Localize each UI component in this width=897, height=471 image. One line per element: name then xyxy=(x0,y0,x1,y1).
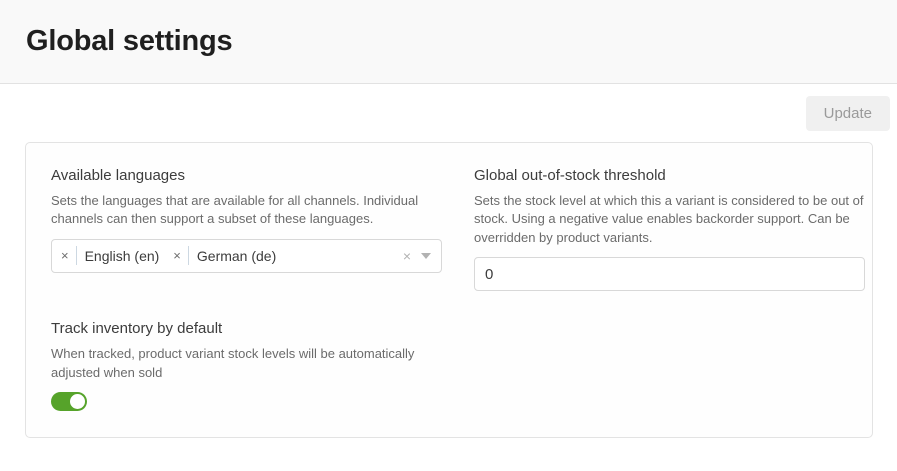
chip-label: German (de) xyxy=(197,248,276,264)
chip-divider xyxy=(76,246,77,265)
language-chip[interactable]: × English (en) xyxy=(61,246,159,265)
update-button[interactable]: Update xyxy=(806,96,890,131)
out-of-stock-threshold-description: Sets the stock level at which this a var… xyxy=(474,192,865,247)
track-inventory-field: Track inventory by default When tracked,… xyxy=(51,320,442,411)
track-inventory-label: Track inventory by default xyxy=(51,320,442,338)
clear-all-icon[interactable]: × xyxy=(403,249,411,263)
page-header: Global settings xyxy=(0,0,897,84)
language-chip[interactable]: × German (de) xyxy=(173,246,276,265)
toggle-knob xyxy=(70,394,85,409)
track-inventory-description: When tracked, product variant stock leve… xyxy=(51,345,442,382)
settings-row-secondary: Track inventory by default When tracked,… xyxy=(51,320,847,411)
language-multiselect[interactable]: × English (en) × German (de) × xyxy=(51,239,442,273)
chevron-down-icon[interactable] xyxy=(421,253,431,259)
out-of-stock-threshold-input[interactable] xyxy=(474,257,865,291)
available-languages-field: Available languages Sets the languages t… xyxy=(51,167,442,291)
out-of-stock-threshold-label: Global out-of-stock threshold xyxy=(474,167,865,185)
chip-remove-icon[interactable]: × xyxy=(61,249,76,262)
chip-remove-icon[interactable]: × xyxy=(173,249,188,262)
page-title: Global settings xyxy=(26,25,232,58)
track-inventory-toggle[interactable] xyxy=(51,392,87,411)
chip-divider xyxy=(188,246,189,265)
out-of-stock-threshold-field: Global out-of-stock threshold Sets the s… xyxy=(474,167,865,291)
available-languages-description: Sets the languages that are available fo… xyxy=(51,192,442,229)
action-bar: Update xyxy=(0,84,897,142)
language-chip-list: × English (en) × German (de) xyxy=(61,246,403,265)
settings-row-primary: Available languages Sets the languages t… xyxy=(51,167,847,291)
settings-card: Available languages Sets the languages t… xyxy=(25,142,873,438)
chip-label: English (en) xyxy=(85,248,160,264)
multiselect-actions: × xyxy=(403,249,435,263)
available-languages-label: Available languages xyxy=(51,167,442,185)
secondary-right-spacer xyxy=(474,320,865,411)
